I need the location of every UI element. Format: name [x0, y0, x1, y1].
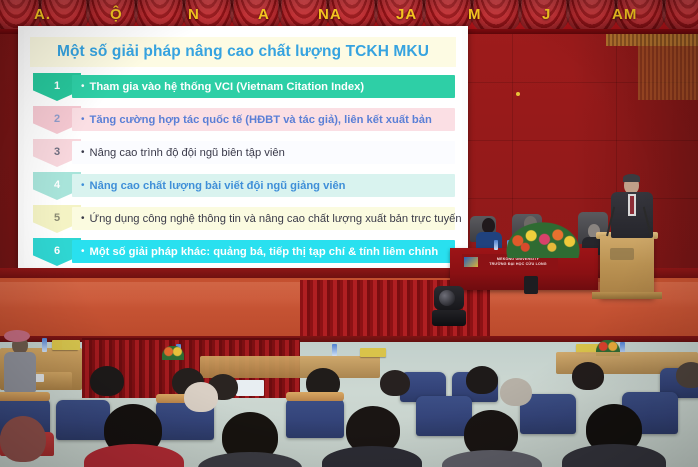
audience-head [184, 382, 218, 412]
slide-row: 5•Ứng dụng công nghệ thông tin và nâng c… [24, 204, 462, 236]
row-number: 1 [54, 80, 60, 92]
audience-head [676, 362, 698, 388]
conference-photo: A. Ộ N A NA JA M J AM Một số giải pháp n… [0, 0, 698, 467]
banner-letter: J [542, 6, 551, 23]
banner-letter: NA [318, 6, 342, 23]
audience-head [466, 366, 498, 394]
podium [600, 236, 654, 298]
row-text-bar: •Tăng cường hợp tác quốc tế (HĐBT và tác… [72, 108, 455, 131]
podium-base [592, 292, 662, 299]
row-text-bar: •Một số giải pháp khác: quảng bá, tiếp t… [72, 240, 455, 263]
banner-letter: A. [34, 6, 51, 23]
auditorium-seat [56, 400, 110, 440]
flower-arrangement [162, 346, 184, 360]
auditorium-seat [286, 398, 344, 438]
water-bottle [332, 344, 337, 356]
flower-arrangement [506, 222, 580, 258]
banner-letter: N [188, 6, 200, 23]
slide-row: 1•Tham gia vào hệ thống VCI (Vietnam Cit… [24, 72, 462, 104]
slide-title: Một số giải pháp nâng cao chất lượng TCK… [30, 37, 456, 67]
bullet-icon: • [81, 181, 85, 191]
row-text: Một số giải pháp khác: quảng bá, tiếp th… [90, 246, 439, 258]
row-number: 6 [54, 245, 60, 257]
audience-head [0, 416, 46, 462]
slide-row: 2•Tăng cường hợp tác quốc tế (HĐBT và tá… [24, 105, 462, 137]
podium-panel [610, 248, 634, 260]
banner-letter: Ộ [110, 6, 123, 23]
slide-bullet-list: 1•Tham gia vào hệ thống VCI (Vietnam Cit… [24, 72, 462, 266]
audience-head [572, 362, 604, 390]
banner-line-2: TRƯỜNG ĐẠI HỌC CỬU LONG [478, 262, 558, 267]
audience-head [90, 366, 124, 396]
name-plate [360, 348, 386, 357]
banner-letter: JA [396, 6, 417, 23]
bullet-icon: • [81, 148, 85, 158]
bullet-icon: • [81, 247, 85, 257]
row-text: Tham gia vào hệ thống VCI (Vietnam Citat… [90, 81, 365, 93]
banner-letter: M [468, 6, 482, 23]
laptop [236, 380, 264, 396]
row-text-bar: •Nâng cao trình độ đội ngũ biên tập viên [72, 141, 455, 164]
bullet-icon: • [81, 82, 85, 92]
audience-head [380, 370, 410, 396]
wall-marker-dot [516, 92, 520, 96]
row-number: 2 [54, 113, 60, 125]
row-text-bar: •Ứng dụng công nghệ thông tin và nâng ca… [72, 207, 455, 230]
row-text-bar: •Tham gia vào hệ thống VCI (Vietnam Cita… [72, 75, 455, 98]
seat-armrest [0, 392, 50, 401]
audience-head [4, 330, 30, 342]
row-text-bar: •Nâng cao chất lượng bài viết đội ngũ gi… [72, 174, 455, 197]
row-text: Ứng dụng công nghệ thông tin và nâng cao… [90, 213, 462, 225]
banner-letter: AM [612, 6, 637, 23]
audience-head [500, 378, 532, 406]
slide-row: 6•Một số giải pháp khác: quảng bá, tiếp … [24, 237, 462, 266]
row-text: Tăng cường hợp tác quốc tế (HĐBT và tác … [90, 114, 432, 126]
slide-row: 3•Nâng cao trình độ đội ngũ biên tập viê… [24, 138, 462, 170]
presentation-slide: Một số giải pháp nâng cao chất lượng TCK… [24, 30, 462, 266]
bullet-icon: • [81, 214, 85, 224]
floor-monitor-speaker [524, 276, 538, 294]
moving-head-stage-light [432, 286, 466, 326]
banner-letter: A [258, 6, 270, 23]
wood-slat-panel [638, 30, 698, 100]
university-logo [464, 257, 478, 267]
slide-row: 4•Nâng cao chất lượng bài viết đội ngũ g… [24, 171, 462, 203]
water-bottle [42, 338, 47, 352]
name-plate [62, 340, 80, 350]
bullet-icon: • [81, 115, 85, 125]
row-number: 5 [54, 212, 60, 224]
wall-seam [466, 198, 698, 199]
row-text: Nâng cao chất lượng bài viết đội ngũ giả… [90, 180, 346, 192]
row-text: Nâng cao trình độ đội ngũ biên tập viên [90, 147, 285, 159]
row-number: 4 [54, 179, 60, 191]
seat-armrest [286, 392, 344, 401]
row-number: 3 [54, 146, 60, 158]
wall-seam [466, 140, 698, 141]
water-bottle [494, 240, 498, 250]
